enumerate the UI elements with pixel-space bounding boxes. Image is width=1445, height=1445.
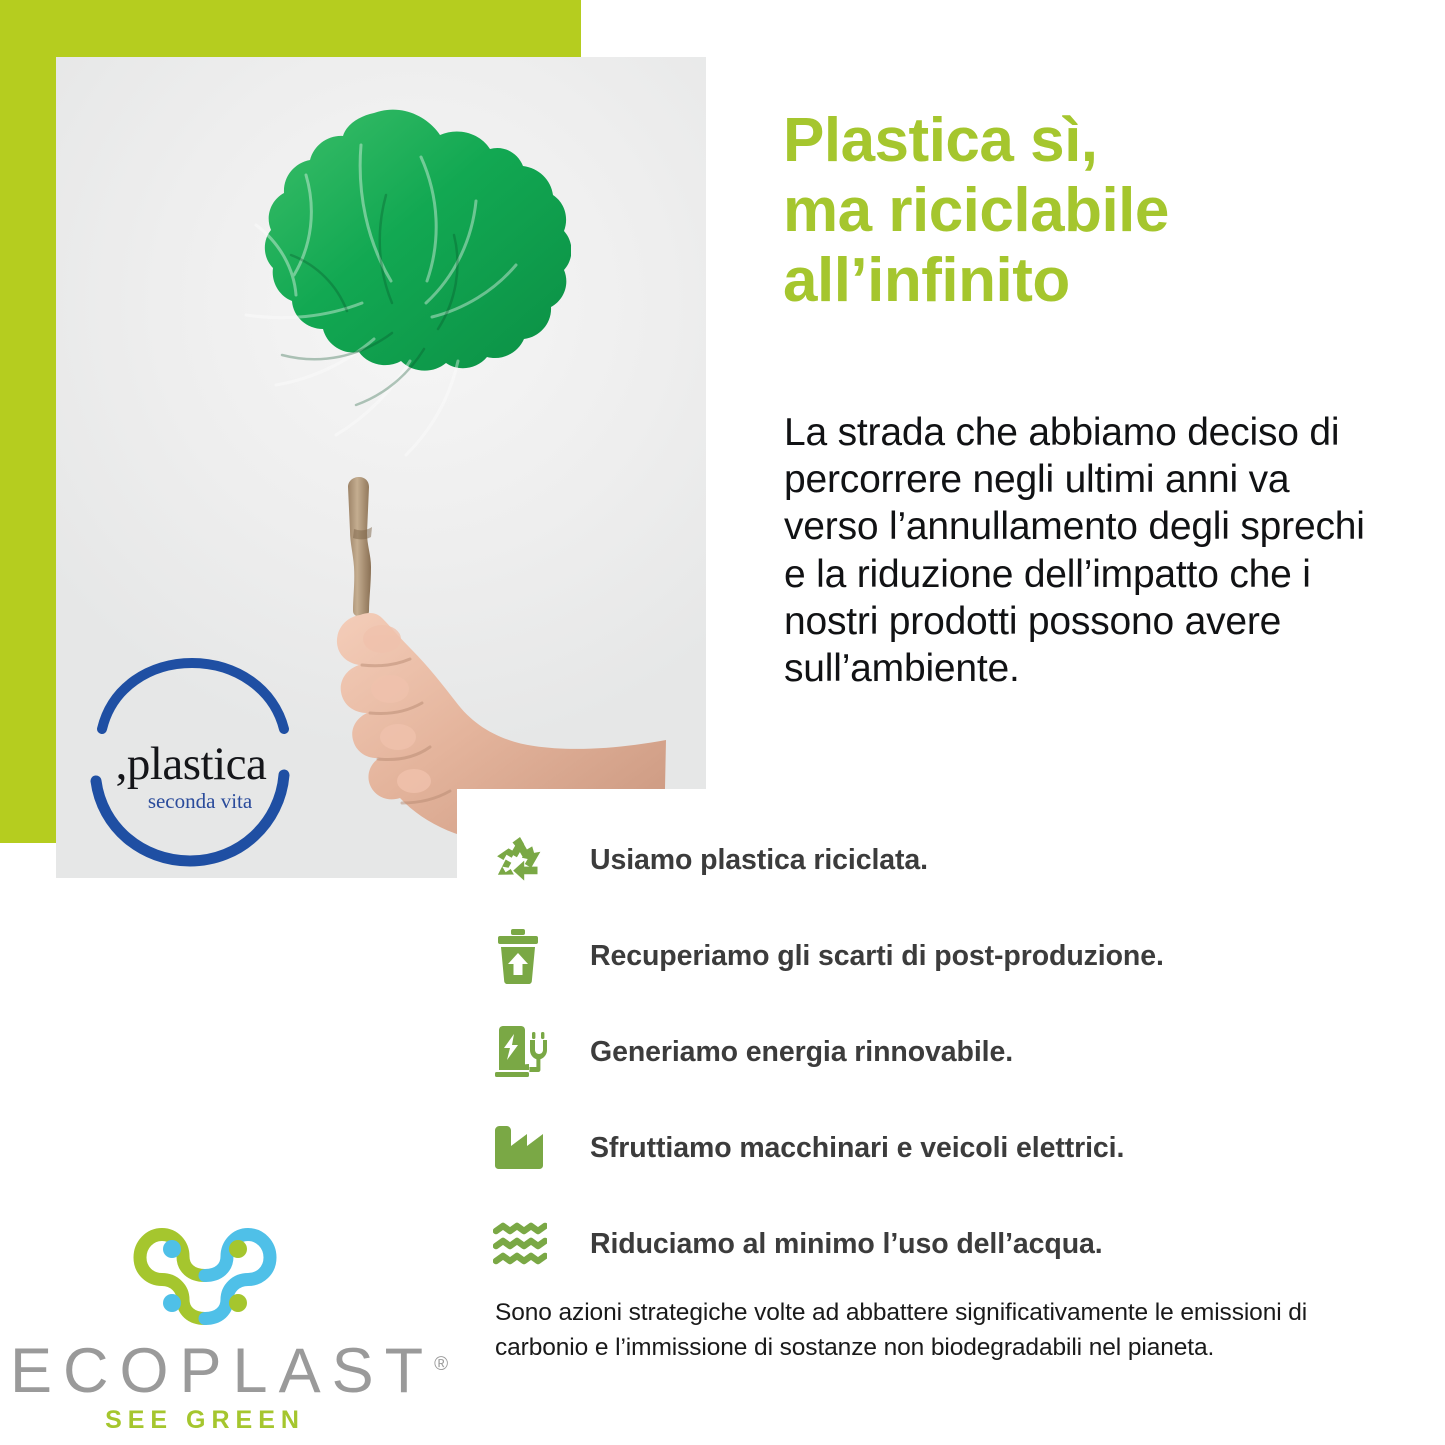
list-item: Riduciamo al minimo l’uso dell’acqua. — [493, 1196, 1413, 1292]
plastic-tree-canopy-icon — [186, 105, 571, 505]
plastica-wordmark: ,plastica — [86, 741, 296, 788]
headline-line-3: all’infinito — [783, 246, 1423, 316]
ecoplast-wordmark-text: ECOPLAST — [10, 1336, 434, 1406]
water-waves-icon — [493, 1215, 555, 1273]
list-item-label: Generiamo energia rinnovabile. — [590, 1036, 1013, 1069]
list-item-label: Recuperiamo gli scarti di post-produzion… — [590, 940, 1164, 973]
list-item: Generiamo energia rinnovabile. — [493, 1004, 1413, 1100]
hero-photo: ,plastica seconda vita — [56, 57, 706, 878]
plastica-seconda-vita-logo: ,plastica seconda vita — [78, 657, 303, 872]
list-item-label: Riduciamo al minimo l’uso dell’acqua. — [590, 1228, 1103, 1261]
list-item: Sfruttiamo macchinari e veicoli elettric… — [493, 1100, 1413, 1196]
benefits-list: Usiamo plastica riciclata. Recuperiamo g… — [493, 812, 1413, 1292]
factory-icon — [493, 1119, 555, 1177]
ecoplast-butterfly-icon — [125, 1208, 285, 1343]
registered-mark: ® — [434, 1354, 448, 1375]
trash-recover-icon — [493, 927, 555, 985]
list-item: Recuperiamo gli scarti di post-produzion… — [493, 908, 1413, 1004]
recycle-icon — [493, 831, 555, 889]
intro-paragraph: La strada che abbiamo deciso di percorre… — [784, 409, 1384, 692]
list-item-label: Sfruttiamo macchinari e veicoli elettric… — [590, 1132, 1124, 1165]
list-item: Usiamo plastica riciclata. — [493, 812, 1413, 908]
headline-line-1: Plastica sì, — [783, 106, 1423, 176]
page-title: Plastica sì, ma riciclabile all’infinito — [783, 106, 1423, 316]
ev-charging-icon — [493, 1023, 555, 1081]
plastica-tagline: seconda vita — [86, 791, 314, 812]
ecoplast-wordmark: ECOPLAST® — [10, 1340, 410, 1403]
footer-note: Sono azioni strategiche volte ad abbatte… — [495, 1296, 1400, 1366]
headline-line-2: ma riciclabile — [783, 176, 1423, 246]
poster-canvas: ,plastica seconda vita Plastica sì, ma r… — [0, 0, 1445, 1445]
ecoplast-tagline: SEE GREEN — [10, 1408, 400, 1433]
list-item-label: Usiamo plastica riciclata. — [590, 844, 928, 877]
ecoplast-logo: ECOPLAST® SEE GREEN — [10, 1200, 410, 1435]
